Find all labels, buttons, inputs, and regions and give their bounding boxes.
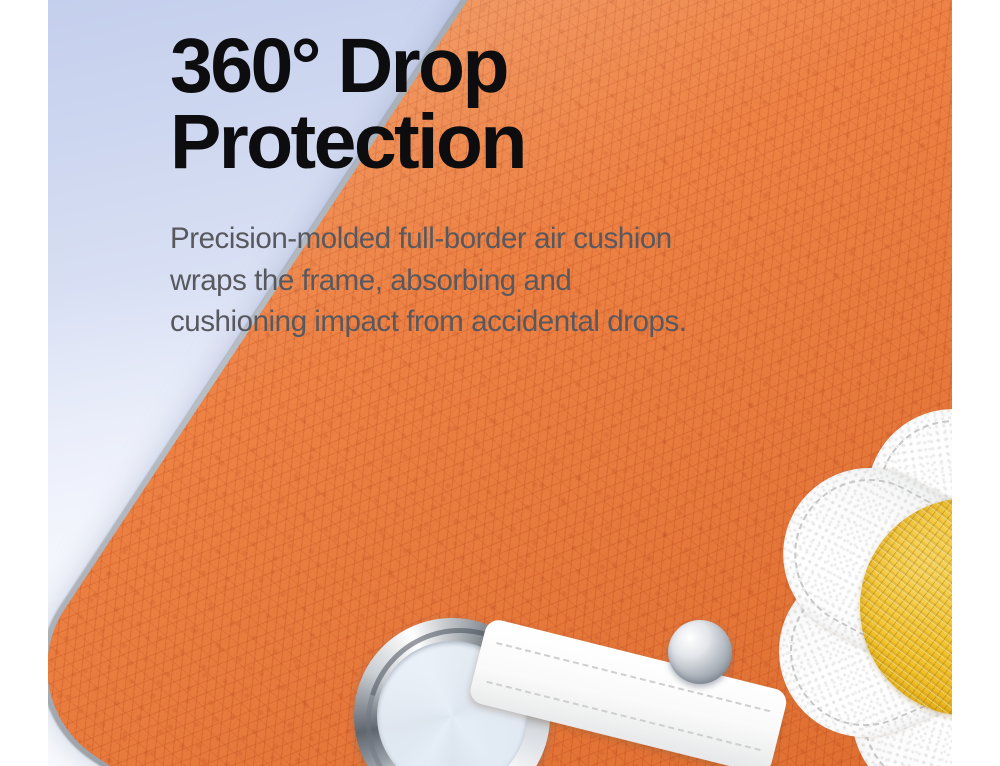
- copy-block: 360° Drop Protection Precision-molded fu…: [170, 28, 690, 342]
- strap-rivet: [668, 620, 732, 684]
- promo-banner: 360° Drop Protection Precision-molded fu…: [0, 0, 1000, 766]
- headline: 360° Drop Protection: [170, 28, 690, 180]
- gradient-backdrop: 360° Drop Protection Precision-molded fu…: [48, 0, 952, 766]
- body-copy: Precision-molded full-border air cushion…: [170, 218, 690, 342]
